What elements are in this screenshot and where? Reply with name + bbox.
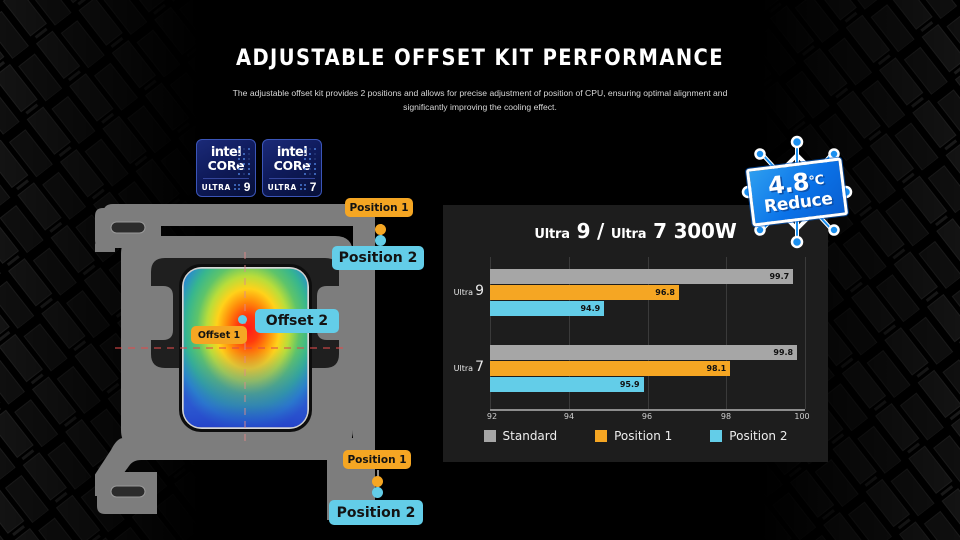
header: ADJUSTABLE OFFSET KIT PERFORMANCE The ad… (0, 0, 960, 114)
x-tick-100: 100 (794, 412, 809, 421)
legend-item-position-1[interactable]: Position 1 (595, 429, 672, 443)
chart-title-pre1: Ultra (534, 227, 569, 242)
bar-value: 99.8 (773, 348, 797, 357)
legend-swatch-position-1 (595, 430, 607, 442)
mini-dot-matrix-icon (234, 184, 241, 190)
bar-ultra7-standard: 99.8 (490, 345, 797, 360)
position-1-label-bottom[interactable]: Position 1 (343, 450, 411, 469)
x-axis-line (490, 409, 805, 411)
ultra-label: ULTRA (268, 183, 297, 192)
intel-core-ultra-7-badge: intel CORe ULTRA 7 (262, 139, 322, 197)
mounting-slot-top (111, 222, 145, 233)
chart-title-pre2: Ultra (611, 227, 646, 242)
position-1-label-top[interactable]: Position 1 (345, 198, 413, 217)
legend-label-position-1: Position 1 (614, 429, 672, 443)
x-tick-94: 94 (564, 412, 574, 421)
group-label-prefix: Ultra (454, 364, 473, 373)
position-2-dot-top[interactable] (375, 235, 386, 246)
legend-item-position-2[interactable]: Position 2 (710, 429, 787, 443)
bar-group-ultra-7: Ultra7 99.8 98.1 95.9 (490, 345, 805, 393)
bar-value: 98.1 (706, 364, 730, 373)
intel-badge-group: intel CORe ULTRA 9 intel CORe ULTRA 7 (196, 139, 322, 197)
dot-matrix-icon (304, 148, 316, 176)
page-title: ADJUSTABLE OFFSET KIT PERFORMANCE (0, 45, 960, 71)
mini-dot-matrix-icon (300, 184, 307, 190)
plot-area: Ultra9 99.7 96.8 94.9 Ultra7 99.8 98.1 9… (490, 257, 805, 409)
offset-1-label[interactable]: Offset 1 (191, 326, 247, 344)
tier-number: 7 (310, 182, 317, 192)
position-2-label-bottom[interactable]: Position 2 (329, 500, 423, 525)
chart-title-num1: 9 (577, 219, 591, 243)
group-label-number: 7 (475, 359, 484, 375)
chart-title-sep: / (597, 219, 604, 243)
position-1-dot-bottom[interactable] (372, 476, 383, 487)
group-label-ultra-9: Ultra9 (454, 283, 484, 299)
ultra-label: ULTRA (202, 183, 231, 192)
offset-2-label[interactable]: Offset 2 (255, 309, 339, 333)
bar-ultra7-position2: 95.9 (490, 377, 644, 392)
page-subtitle: The adjustable offset kit provides 2 pos… (220, 86, 740, 114)
bar-value: 96.8 (655, 288, 679, 297)
x-tick-98: 98 (721, 412, 731, 421)
position-2-dot-bottom[interactable] (372, 487, 383, 498)
bar-ultra9-standard: 99.7 (490, 269, 793, 284)
position-2-label-top[interactable]: Position 2 (332, 246, 424, 270)
bar-ultra7-position1: 98.1 (490, 361, 730, 376)
badge-footer: ULTRA 7 (263, 179, 321, 192)
bar-ultra9-position1: 96.8 (490, 285, 679, 300)
dot-matrix-icon (238, 148, 250, 176)
group-label-ultra-7: Ultra7 (454, 359, 484, 375)
offset-2-dot[interactable] (238, 315, 247, 324)
gridline-100 (805, 257, 806, 409)
group-label-number: 9 (475, 283, 484, 299)
chart-title-num2: 7 300W (653, 219, 737, 243)
legend-swatch-position-2 (710, 430, 722, 442)
position-1-dot-top[interactable] (375, 224, 386, 235)
bar-group-ultra-9: Ultra9 99.7 96.8 94.9 (490, 269, 805, 317)
badge-footer: ULTRA 9 (197, 179, 255, 192)
group-label-prefix: Ultra (454, 288, 473, 297)
legend-label-position-2: Position 2 (729, 429, 787, 443)
bar-ultra9-position2: 94.9 (490, 301, 604, 316)
reduce-plate: 4.8°C Reduce (746, 157, 848, 226)
tier-number: 9 (244, 182, 251, 192)
legend-label-standard: Standard (503, 429, 558, 443)
x-tick-92: 92 (487, 412, 497, 421)
mounting-slot-bottom (111, 486, 145, 497)
bar-value: 94.9 (580, 304, 604, 313)
intel-core-ultra-9-badge: intel CORe ULTRA 9 (196, 139, 256, 197)
legend-swatch-standard (484, 430, 496, 442)
legend-item-standard[interactable]: Standard (484, 429, 558, 443)
x-tick-96: 96 (642, 412, 652, 421)
temperature-reduce-badge: 4.8°C Reduce (733, 133, 861, 251)
chart-legend: Standard Position 1 Position 2 (443, 429, 828, 443)
bar-value: 95.9 (620, 380, 644, 389)
bar-value: 99.7 (769, 272, 793, 281)
